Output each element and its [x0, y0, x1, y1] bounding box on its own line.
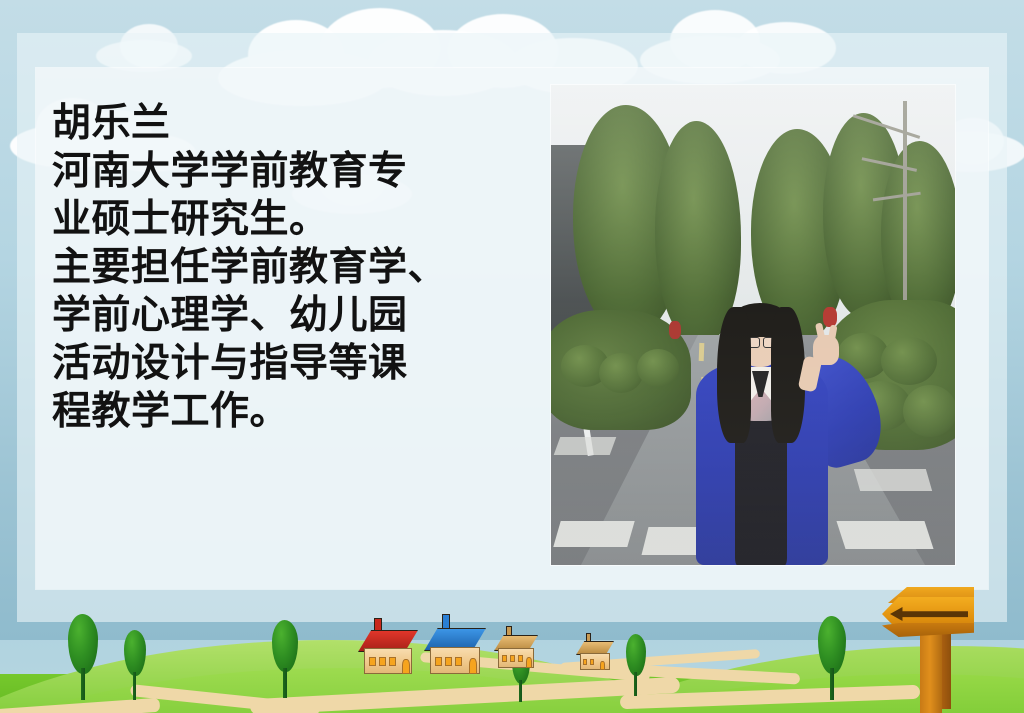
wooden-signpost — [880, 583, 1000, 713]
door — [402, 659, 410, 674]
chimney-icon — [506, 626, 512, 636]
chimney-icon — [586, 633, 591, 642]
landscape-ground — [0, 612, 1024, 713]
window — [590, 659, 594, 665]
window — [510, 655, 515, 662]
window — [389, 657, 396, 666]
tree-icon — [272, 620, 298, 698]
slide-canvas: 胡乐兰 河南大学学前教育专 业硕士研究生。 主要担任学前教育学、 学前心理学、幼… — [0, 0, 1024, 713]
tree-icon — [124, 630, 146, 700]
house-tan-roof-1 — [494, 632, 538, 668]
door — [469, 658, 477, 674]
window — [518, 655, 523, 662]
photo-haze — [551, 85, 955, 565]
house-red-roof — [358, 626, 418, 674]
house-blue-roof — [424, 624, 486, 674]
window — [455, 657, 462, 666]
window — [369, 657, 376, 666]
window — [445, 657, 452, 666]
tree-icon — [68, 614, 98, 700]
bio-text-block: 胡乐兰 河南大学学前教育专 业硕士研究生。 主要担任学前教育学、 学前心理学、幼… — [52, 100, 492, 436]
chimney-icon — [374, 618, 382, 632]
signpost-board-shade — [882, 623, 974, 637]
window — [502, 655, 507, 662]
window — [379, 657, 386, 666]
door — [526, 657, 532, 668]
tree-icon — [626, 634, 646, 696]
window — [583, 659, 587, 665]
house-tan-roof-2 — [576, 638, 614, 670]
portrait-photo — [551, 85, 955, 565]
window — [435, 657, 442, 666]
chimney-icon — [442, 614, 450, 630]
tree-icon — [818, 616, 846, 700]
door — [600, 661, 605, 670]
